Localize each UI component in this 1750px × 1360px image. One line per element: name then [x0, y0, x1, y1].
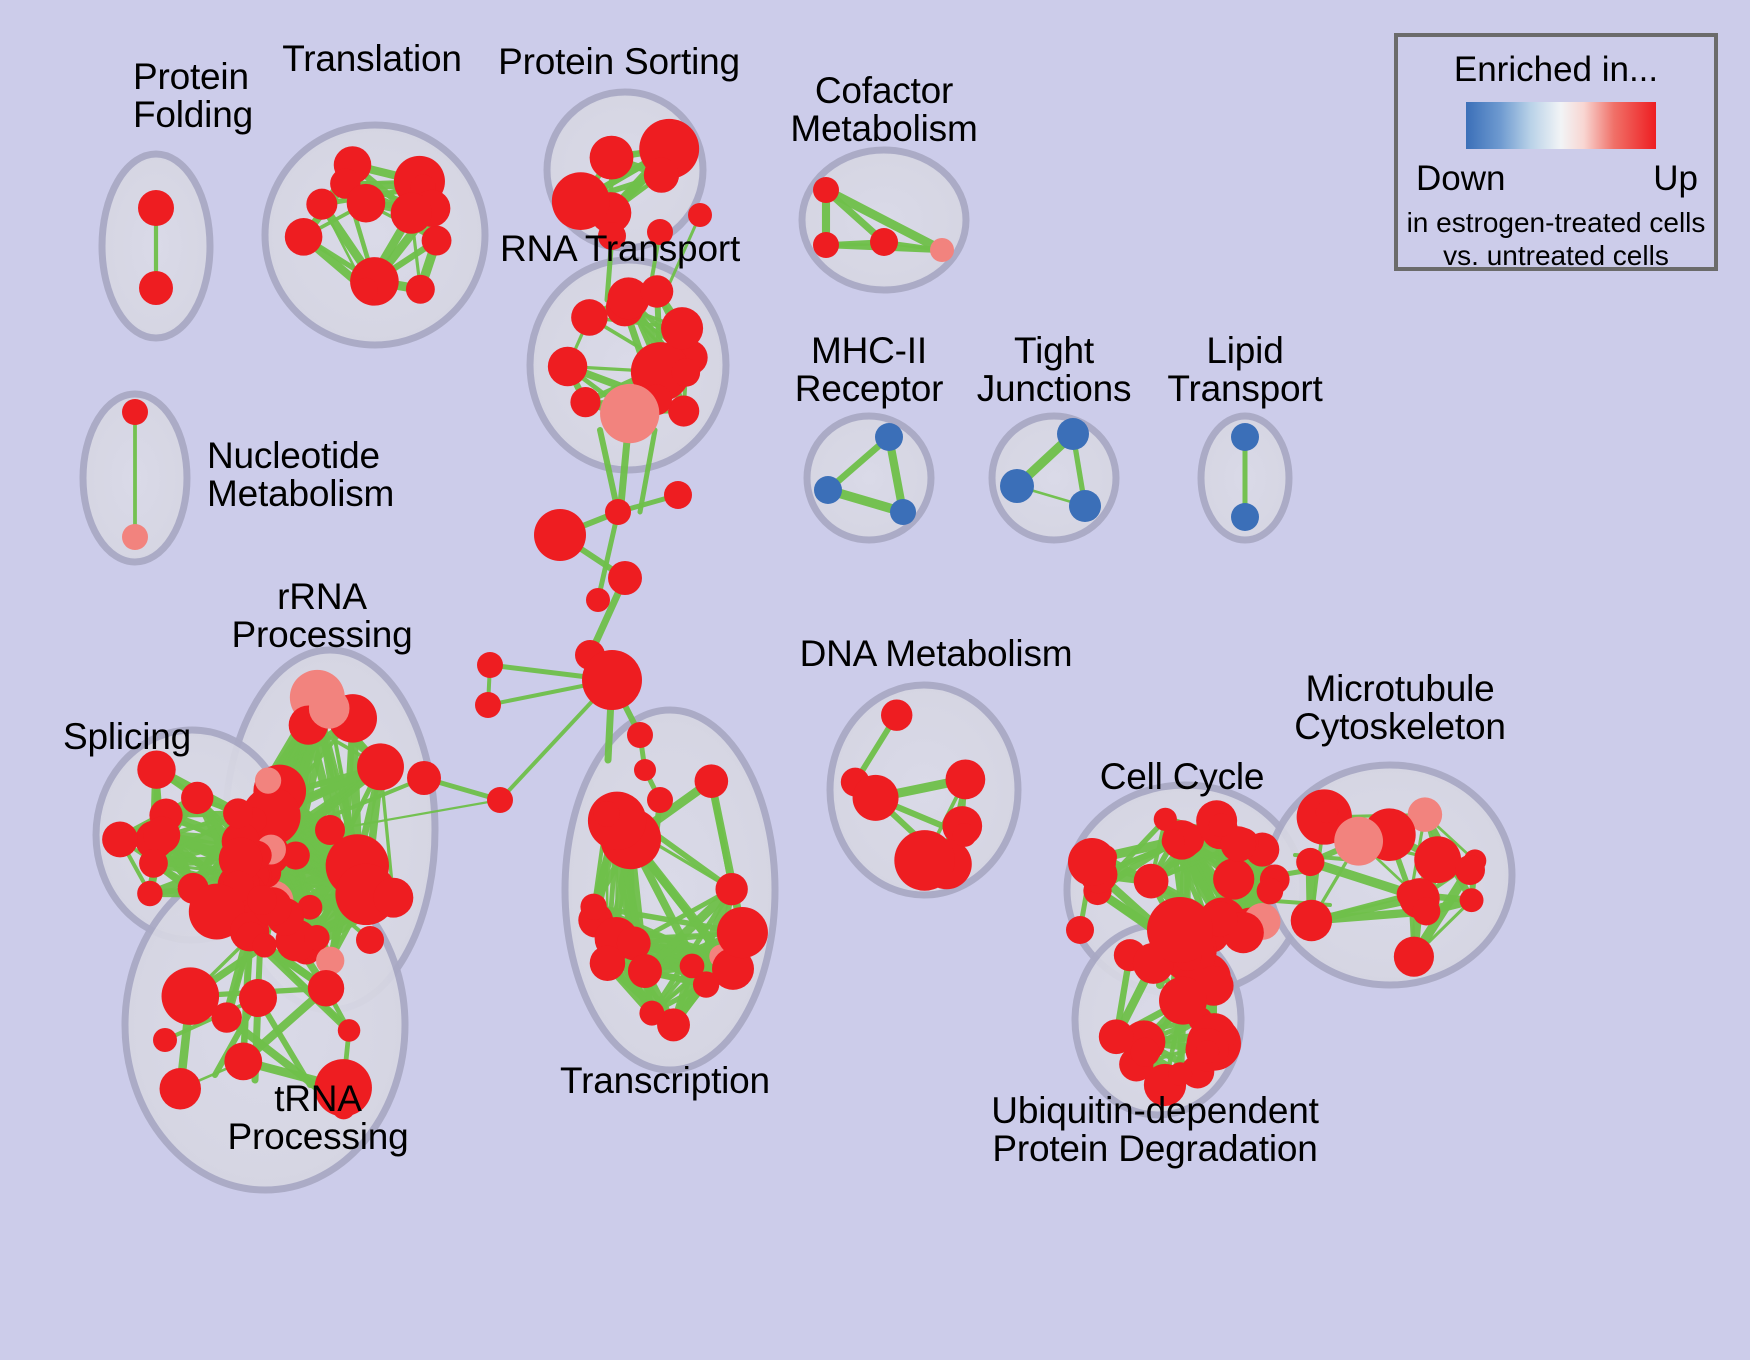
network-node-microtubule-cytoskeleton — [1412, 897, 1440, 925]
network-node-microtubule-cytoskeleton — [1291, 900, 1332, 941]
network-node-transcription — [580, 894, 606, 920]
network-node-cell-cycle — [1134, 864, 1169, 899]
network-node-ubiquitin-protein-degradation — [1196, 1040, 1219, 1063]
network-node-protein-folding — [139, 271, 173, 305]
network-node-trna-processing — [224, 1042, 262, 1080]
network-node-tight-junctions — [1000, 469, 1034, 503]
network-node-rrna-processing — [304, 925, 329, 950]
legend-panel: Enriched in... Down Up in estrogen-treat… — [1394, 33, 1718, 271]
legend-high-label: Up — [1653, 159, 1698, 199]
network-node-bridge — [407, 761, 441, 795]
network-node-transcription — [695, 764, 729, 798]
network-node-trna-processing — [162, 967, 220, 1025]
network-node-cell-cycle — [1162, 830, 1185, 853]
network-node-transcription — [715, 873, 747, 905]
network-node-protein-folding — [138, 190, 174, 226]
network-node-ubiquitin-protein-degradation — [1131, 1038, 1160, 1067]
network-node-rna-transport — [571, 299, 608, 336]
network-node-dna-metabolism — [881, 699, 912, 730]
network-node-rna-transport — [672, 358, 700, 386]
cluster-label-rna-transport: RNA Transport — [500, 230, 740, 268]
network-node-rna-transport — [661, 307, 703, 349]
network-node-cell-cycle — [1209, 813, 1233, 837]
network-node-microtubule-cytoskeleton — [1460, 888, 1484, 912]
network-node-transcription — [590, 945, 626, 981]
network-node-microtubule-cytoskeleton — [1414, 836, 1461, 883]
network-node-bridge — [477, 652, 503, 678]
network-node-protein-sorting — [644, 158, 679, 193]
network-node-bridge — [475, 692, 501, 718]
network-node-translation — [391, 193, 432, 234]
network-node-splicing — [223, 798, 253, 828]
network-node-bridge — [634, 759, 656, 781]
legend-caption-line2: vs. untreated cells — [1398, 240, 1714, 272]
network-node-microtubule-cytoskeleton — [1334, 817, 1383, 866]
cluster-label-protein-folding: Protein Folding — [133, 58, 253, 135]
network-node-cofactor-metabolism — [813, 177, 839, 203]
network-node-ubiquitin-protein-degradation — [1159, 977, 1207, 1025]
network-node-ubiquitin-protein-degradation — [1168, 1062, 1192, 1086]
cluster-label-protein-sorting: Protein Sorting — [498, 43, 740, 81]
network-node-cofactor-metabolism — [870, 228, 898, 256]
network-node-ubiquitin-protein-degradation — [1099, 1019, 1134, 1054]
cluster-label-lipid-transport: Lipid Transport — [1167, 332, 1322, 409]
network-node-bridge — [1147, 897, 1213, 963]
cluster-label-nucleotide-metabolism: Nucleotide Metabolism — [207, 437, 394, 514]
network-node-translation — [347, 184, 386, 223]
legend-caption-line1: in estrogen-treated cells — [1398, 207, 1714, 239]
network-node-microtubule-cytoskeleton — [1316, 801, 1338, 823]
network-node-bridge — [1455, 855, 1485, 885]
network-node-cofactor-metabolism — [930, 238, 954, 262]
network-node-transcription — [594, 801, 620, 827]
network-node-rrna-processing — [357, 743, 404, 790]
network-node-trna-processing — [308, 970, 344, 1006]
network-node-translation — [350, 257, 399, 306]
network-node-nucleotide-metabolism — [122, 524, 148, 550]
network-node-splicing — [143, 817, 180, 854]
network-node-translation — [406, 275, 435, 304]
cluster-label-cell-cycle: Cell Cycle — [1100, 758, 1265, 796]
network-node-mhc-ii-receptor — [890, 499, 916, 525]
network-node-transcription — [639, 1001, 664, 1026]
network-node-bridge — [153, 1028, 177, 1052]
network-node-bridge — [356, 926, 384, 954]
network-node-rrna-processing — [255, 767, 281, 793]
cluster-label-transcription: Transcription — [560, 1062, 770, 1100]
network-node-trna-processing — [160, 1068, 201, 1109]
network-node-bridge — [608, 561, 642, 595]
network-node-protein-sorting — [590, 136, 634, 180]
network-node-splicing — [181, 782, 213, 814]
network-node-lipid-transport — [1231, 503, 1259, 531]
legend-low-label: Down — [1416, 159, 1505, 199]
network-node-lipid-transport — [1231, 423, 1259, 451]
network-node-rna-transport — [641, 275, 673, 307]
network-node-bridge — [315, 815, 345, 845]
network-node-bridge — [239, 979, 277, 1017]
network-node-bridge — [688, 203, 712, 227]
network-node-splicing — [137, 881, 162, 906]
network-node-cell-cycle — [1213, 858, 1254, 899]
network-node-translation — [422, 226, 452, 256]
network-node-trna-processing — [252, 933, 276, 957]
network-node-trna-processing — [211, 1002, 241, 1032]
network-node-rna-transport — [570, 387, 600, 417]
network-node-rna-transport — [668, 395, 699, 426]
network-node-dna-metabolism — [894, 830, 955, 891]
legend-title: Enriched in... — [1398, 50, 1714, 90]
cluster-label-dna-metabolism: DNA Metabolism — [800, 635, 1073, 673]
network-node-protein-sorting — [552, 172, 610, 230]
network-node-bridge — [647, 787, 673, 813]
network-node-rna-transport — [548, 347, 587, 386]
network-node-tight-junctions — [1069, 490, 1101, 522]
network-node-mhc-ii-receptor — [814, 476, 842, 504]
network-node-translation — [354, 278, 378, 302]
network-node-nucleotide-metabolism — [122, 399, 148, 425]
legend-color-bar — [1466, 102, 1656, 149]
cluster-label-splicing: Splicing — [63, 718, 191, 756]
network-node-bridge — [534, 509, 586, 561]
network-node-tight-junctions — [1057, 418, 1089, 450]
network-node-microtubule-cytoskeleton — [1394, 937, 1434, 977]
network-node-cofactor-metabolism — [813, 232, 839, 258]
cluster-label-cofactor-metabolism: Cofactor Metabolism — [790, 72, 977, 149]
enrichment-network-figure: Protein FoldingTranslationProtein Sortin… — [0, 0, 1750, 1360]
network-node-mhc-ii-receptor — [875, 423, 903, 451]
network-node-translation — [306, 189, 337, 220]
network-node-bridge — [1068, 838, 1116, 886]
network-node-dna-metabolism — [953, 823, 977, 847]
network-node-microtubule-cytoskeleton — [1296, 848, 1324, 876]
network-node-bridge — [247, 885, 277, 915]
network-node-rrna-processing — [373, 878, 413, 918]
cluster-label-mhc-ii-receptor: MHC-II Receptor — [795, 332, 944, 409]
network-node-transcription — [680, 954, 705, 979]
network-node-trna-processing — [338, 1019, 361, 1042]
cluster-label-trna-processing: tRNA Processing — [227, 1080, 408, 1157]
network-node-translation — [285, 218, 323, 256]
network-node-dna-metabolism — [853, 775, 899, 821]
cluster-label-rrna-processing: rRNA Processing — [231, 578, 412, 655]
cluster-label-tight-junctions: Tight Junctions — [977, 332, 1132, 409]
network-node-bridge — [586, 588, 610, 612]
network-node-transcription — [628, 954, 662, 988]
network-node-splicing — [102, 822, 138, 858]
network-node-rrna-processing — [309, 688, 350, 729]
network-node-bridge — [487, 787, 513, 813]
cluster-label-translation: Translation — [282, 40, 461, 78]
network-node-bridge — [664, 481, 692, 509]
network-node-bridge — [1066, 916, 1094, 944]
network-node-rrna-processing — [282, 841, 310, 869]
cluster-label-ubiquitin-protein-degradation: Ubiquitin-dependent Protein Degradation — [991, 1092, 1318, 1169]
network-node-bridge — [627, 722, 653, 748]
network-node-bridge — [582, 650, 642, 710]
network-node-transcription — [717, 907, 768, 958]
cluster-label-microtubule-cytoskeleton: Microtubule Cytoskeleton — [1294, 670, 1506, 747]
network-node-bridge — [605, 499, 631, 525]
network-node-dna-metabolism — [945, 760, 985, 800]
network-node-splicing — [139, 849, 168, 878]
network-node-rna-transport — [600, 384, 659, 443]
network-node-cell-cycle — [1257, 878, 1284, 905]
